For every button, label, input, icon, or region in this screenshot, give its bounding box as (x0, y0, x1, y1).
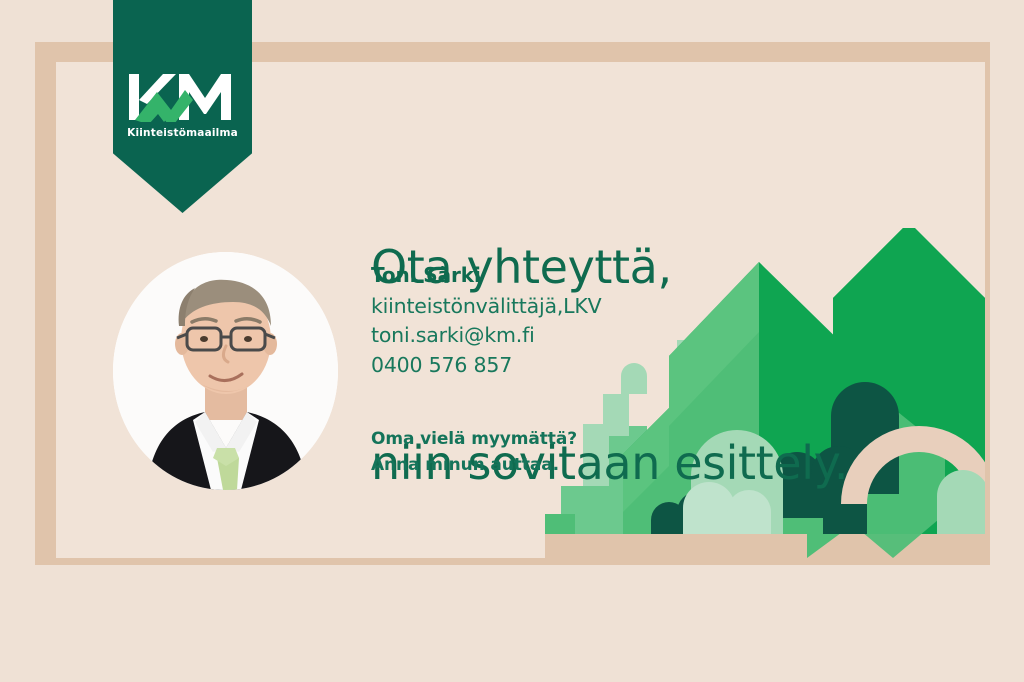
contact-email[interactable]: toni.sarki@km.fi (371, 321, 601, 351)
logo-block: Kiinteistömaailma (113, 72, 252, 139)
contact-name: Toni Särki (371, 262, 601, 289)
cta-line-1: Oma vielä myymättä? (371, 426, 577, 452)
agent-portrait (113, 252, 338, 490)
logo-wordmark: Kiinteistömaailma (113, 127, 252, 139)
cta-line-2: Anna minun auttaa. (371, 452, 577, 478)
km-monogram-icon (127, 72, 239, 122)
contact-phone[interactable]: 0400 576 857 (371, 351, 601, 381)
contact-block: Toni Särki kiinteistönvälittäjä,LKV toni… (371, 262, 601, 380)
contact-title: kiinteistönvälittäjä,LKV (371, 292, 601, 322)
tree-far-right (937, 470, 985, 534)
cta-block: Oma vielä myymättä? Anna minun auttaa. (371, 426, 577, 479)
poster-canvas: Ota yhteyttä, niin sovitaan esittely. To… (0, 0, 1024, 682)
